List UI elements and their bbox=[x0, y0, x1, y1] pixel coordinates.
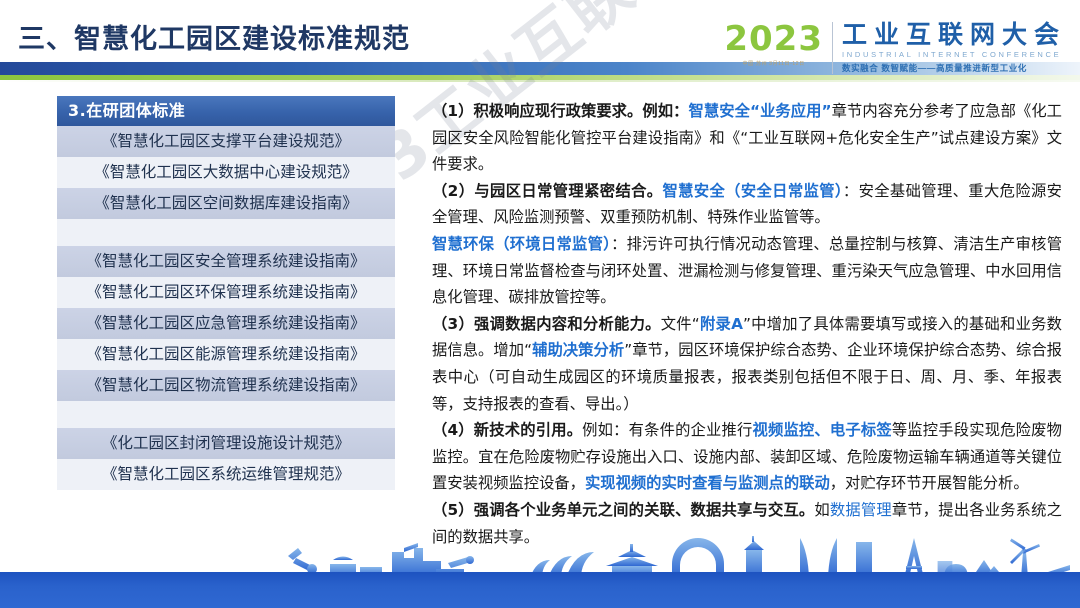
paragraph-1: （1）积极响应现行政策要求。例如：智慧安全“业务应用”章节内容充分参考了应急部《… bbox=[432, 98, 1062, 178]
logo-separator bbox=[832, 22, 833, 74]
p5-text-1: 如 bbox=[814, 501, 829, 519]
conference-logo: 2023 中国·苏州 3月11日-12日 工业互联网大会 INDUSTRIAL … bbox=[724, 22, 1066, 74]
p3-bold-lead: 强调数据内容和分析能力。 bbox=[474, 315, 661, 333]
p3-number: （3） bbox=[432, 315, 474, 333]
standards-list-item[interactable]: 《智慧化工园区大数据中心建设规范》 bbox=[57, 157, 395, 188]
p1-highlight-1: 智慧安全 bbox=[689, 102, 750, 120]
logo-name-block: 工业互联网大会 INDUSTRIAL INTERNET CONFERENCE 数… bbox=[842, 22, 1066, 74]
p4-number: （4） bbox=[432, 421, 474, 439]
standards-list-item[interactable]: 《智慧化工园区应急管理系统建设指南》 bbox=[57, 308, 395, 339]
standards-list-item[interactable]: 《智慧化工园区空间数据库建设指南》 bbox=[57, 188, 395, 219]
p4-highlight-1: 视频监控、电子标签 bbox=[752, 421, 891, 439]
p5-number: （5） bbox=[432, 501, 474, 519]
p4-highlight-2: 实现视频的实时查看与监测点的联动 bbox=[585, 474, 830, 492]
paragraph-3: （3）强调数据内容和分析能力。文件“附录A”中增加了具体需要填写或接入的基础和业… bbox=[432, 311, 1062, 417]
logo-year-block: 2023 中国·苏州 3月11日-12日 bbox=[724, 22, 832, 67]
standards-list-spacer bbox=[57, 219, 395, 246]
logo-name-cn: 工业互联网大会 bbox=[842, 22, 1066, 48]
logo-name-en: INDUSTRIAL INTERNET CONFERENCE bbox=[842, 50, 1066, 59]
footer-graphic bbox=[0, 538, 1080, 608]
standards-list: 《智慧化工园区支撑平台建设规范》《智慧化工园区大数据中心建设规范》《智慧化工园区… bbox=[57, 126, 395, 490]
p5-highlight-1: 数据管理 bbox=[830, 501, 892, 519]
logo-slogan: 数实融合 数智赋能——高质量推进新型工业化 bbox=[842, 62, 1066, 74]
standards-list-item[interactable]: 《智慧化工园区支撑平台建设规范》 bbox=[57, 126, 395, 157]
paragraph-4: （4）新技术的引用。例如：有条件的企业推行视频监控、电子标签等监控手段实现危险废… bbox=[432, 417, 1062, 497]
logo-year-text: 2023 bbox=[724, 22, 823, 56]
p4-text-3: ，对贮存环节开展智能分析。 bbox=[830, 474, 1029, 492]
standards-list-spacer bbox=[57, 401, 395, 428]
standards-list-item[interactable]: 《化工园区封闭管理设施设计规范》 bbox=[57, 428, 395, 459]
standards-panel: 3.在研团体标准 《智慧化工园区支撑平台建设规范》《智慧化工园区大数据中心建设规… bbox=[57, 96, 395, 490]
paragraph-2b: 智慧环保（环境日常监管）：排污许可执行情况动态管理、总量控制与核算、清洁生产审核… bbox=[432, 231, 1062, 311]
p2-bold-lead: 与园区日常管理紧密结合。 bbox=[474, 182, 662, 200]
water-band bbox=[0, 572, 1080, 608]
paragraph-2: （2）与园区日常管理紧密结合。智慧安全（安全日常监管）：安全基础管理、重大危险源… bbox=[432, 178, 1062, 231]
body-text-column: （1）积极响应现行政策要求。例如：智慧安全“业务应用”章节内容充分参考了应急部《… bbox=[432, 98, 1062, 550]
slide-root: 三、智慧化工园区建设标准规范 2023 中国·苏州 3月11日-12日 工业互联… bbox=[0, 0, 1080, 608]
p3-highlight-1: 附录A bbox=[700, 315, 743, 333]
p2-highlight-1: 智慧安全（安全日常监管） bbox=[662, 182, 842, 200]
standards-list-item[interactable]: 《智慧化工园区系统运维管理规范》 bbox=[57, 459, 395, 490]
p4-bold-lead: 新技术的引用。 bbox=[474, 421, 582, 439]
standards-list-item[interactable]: 《智慧化工园区能源管理系统建设指南》 bbox=[57, 339, 395, 370]
p3-text-1: 文件“ bbox=[661, 315, 700, 333]
p4-text-1: 例如：有条件的企业推行 bbox=[582, 421, 752, 439]
p2-number: （2） bbox=[432, 182, 474, 200]
page-title: 三、智慧化工园区建设标准规范 bbox=[18, 17, 410, 56]
standards-list-item[interactable]: 《智慧化工园区安全管理系统建设指南》 bbox=[57, 246, 395, 277]
p3-highlight-2: 辅助决策分析 bbox=[532, 341, 624, 359]
p1-number: （1） bbox=[432, 102, 473, 120]
p5-bold-lead: 强调各个业务单元之间的关联、数据共享与交互。 bbox=[474, 501, 815, 519]
standards-list-item[interactable]: 《智慧化工园区物流管理系统建设指南》 bbox=[57, 370, 395, 401]
p1-text-1: 例如： bbox=[642, 102, 688, 120]
standards-list-item[interactable]: 《智慧化工园区环保管理系统建设指南》 bbox=[57, 277, 395, 308]
p2b-highlight-1: 智慧环保（环境日常监管） bbox=[432, 235, 611, 253]
p1-bold-lead: 积极响应现行政策要求。 bbox=[473, 102, 642, 120]
standards-panel-header: 3.在研团体标准 bbox=[57, 96, 395, 126]
header-divider-green-light bbox=[0, 80, 1080, 82]
logo-year-subtitle: 中国·苏州 3月11日-12日 bbox=[743, 60, 805, 67]
p1-highlight-2: “业务应用” bbox=[750, 102, 832, 120]
